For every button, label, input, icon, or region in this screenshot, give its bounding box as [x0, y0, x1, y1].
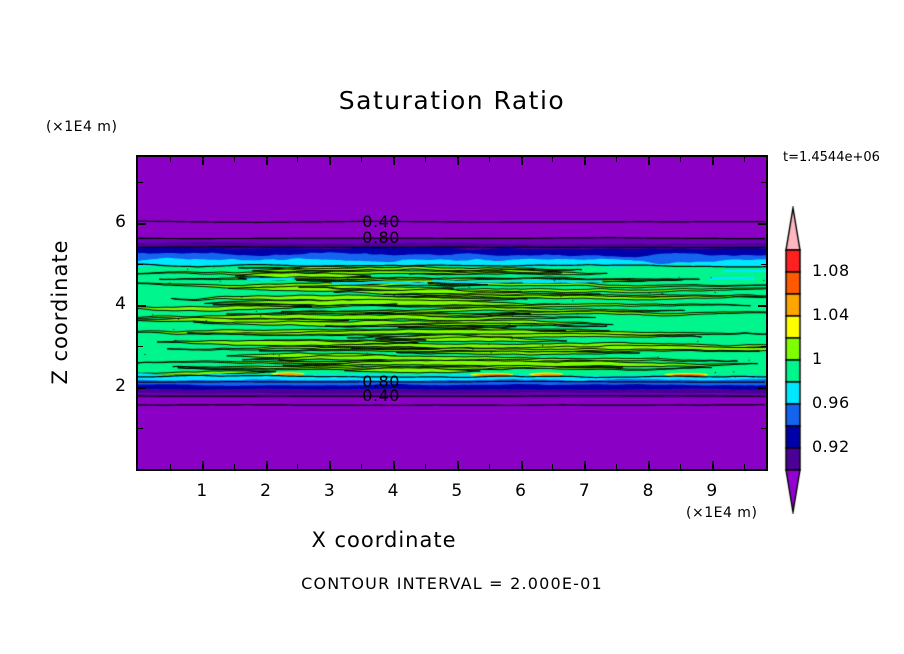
contour-plot-area	[136, 155, 768, 471]
x-tick-label: 1	[182, 481, 222, 501]
y-tick-minor-right	[761, 264, 766, 265]
y-tick-left	[138, 305, 146, 307]
colorbar	[780, 206, 806, 514]
x-tick-minor-top	[552, 157, 553, 162]
y-tick-label: 4	[96, 294, 126, 314]
colorbar-canvas	[780, 206, 806, 514]
y-tick-minor-right	[761, 182, 766, 183]
y-tick-label: 6	[96, 212, 126, 232]
x-tick-minor-top	[234, 157, 235, 162]
x-tick-bottom	[202, 461, 204, 469]
x-tick-minor-top	[425, 157, 426, 162]
x-tick-top	[712, 157, 714, 165]
contour-label: 0.40	[362, 386, 400, 405]
y-tick-left	[138, 387, 146, 389]
x-tick-label: 7	[564, 481, 604, 501]
x-tick-minor-bottom	[234, 464, 235, 469]
y-tick-left	[138, 223, 146, 225]
x-tick-top	[266, 157, 268, 165]
x-tick-minor-bottom	[170, 464, 171, 469]
x-tick-minor-bottom	[744, 464, 745, 469]
x-tick-minor-top	[680, 157, 681, 162]
x-tick-bottom	[712, 461, 714, 469]
x-tick-top	[521, 157, 523, 165]
x-tick-top	[584, 157, 586, 165]
x-tick-top	[329, 157, 331, 165]
x-tick-minor-bottom	[425, 464, 426, 469]
x-tick-minor-top	[616, 157, 617, 162]
x-tick-minor-top	[489, 157, 490, 162]
x-tick-bottom	[329, 461, 331, 469]
x-tick-minor-bottom	[489, 464, 490, 469]
x-tick-bottom	[393, 461, 395, 469]
x-tick-label: 8	[628, 481, 668, 501]
x-tick-minor-top	[297, 157, 298, 162]
x-tick-label: 4	[373, 481, 413, 501]
colorbar-tick-label: 1	[812, 349, 823, 368]
y-tick-minor-left	[138, 428, 143, 429]
y-tick-right	[758, 387, 766, 389]
y-axis-units-label: (×1E4 m)	[46, 119, 117, 135]
colorbar-tick-label: 1.04	[812, 305, 850, 324]
x-tick-bottom	[266, 461, 268, 469]
x-tick-minor-top	[170, 157, 171, 162]
x-tick-bottom	[584, 461, 586, 469]
x-tick-top	[457, 157, 459, 165]
x-tick-top	[393, 157, 395, 165]
colorbar-tick-label: 0.96	[812, 393, 850, 412]
x-tick-bottom	[648, 461, 650, 469]
x-axis-title: X coordinate	[0, 528, 768, 552]
y-tick-minor-right	[761, 346, 766, 347]
saturation-field-canvas	[138, 157, 766, 469]
y-tick-right	[758, 305, 766, 307]
x-tick-minor-bottom	[680, 464, 681, 469]
colorbar-tick-label: 0.92	[812, 437, 850, 456]
contour-label: 0.80	[362, 228, 400, 247]
y-tick-label: 2	[96, 376, 126, 396]
y-axis-title: Z coordinate	[48, 212, 72, 412]
x-tick-top	[202, 157, 204, 165]
x-tick-minor-top	[361, 157, 362, 162]
colorbar-tick-label: 1.08	[812, 261, 850, 280]
y-tick-minor-right	[761, 428, 766, 429]
x-tick-label: 5	[437, 481, 477, 501]
x-tick-label: 3	[309, 481, 349, 501]
contour-interval-caption: CONTOUR INTERVAL = 2.000E-01	[0, 574, 904, 593]
x-tick-minor-top	[744, 157, 745, 162]
time-stamp-label: t=1.4544e+06	[783, 150, 880, 165]
x-tick-minor-bottom	[361, 464, 362, 469]
y-tick-minor-left	[138, 182, 143, 183]
x-tick-label: 2	[246, 481, 286, 501]
x-tick-label: 9	[692, 481, 732, 501]
x-tick-minor-bottom	[616, 464, 617, 469]
page-title: Saturation Ratio	[0, 86, 904, 115]
x-tick-minor-bottom	[552, 464, 553, 469]
x-axis-units-label: (×1E4 m)	[686, 505, 757, 521]
y-tick-minor-left	[138, 264, 143, 265]
x-tick-bottom	[521, 461, 523, 469]
x-tick-label: 6	[501, 481, 541, 501]
x-tick-top	[648, 157, 650, 165]
x-tick-minor-bottom	[297, 464, 298, 469]
y-tick-minor-left	[138, 346, 143, 347]
x-tick-bottom	[457, 461, 459, 469]
y-tick-right	[758, 223, 766, 225]
